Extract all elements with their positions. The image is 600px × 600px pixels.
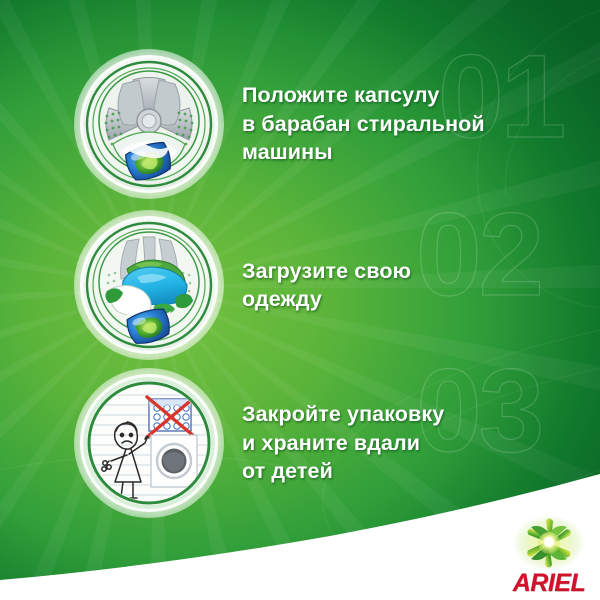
washing-machine-drum-with-pod-icon xyxy=(83,58,215,190)
ariel-star-icon xyxy=(512,515,586,573)
step-2-icon-wrapper xyxy=(83,219,215,351)
step-row-1: Положите капсулу в барабан стиральной ма… xyxy=(0,58,600,190)
ariel-wordmark: ARIEL xyxy=(503,569,595,598)
step-2-text: Загрузите свою одежду xyxy=(242,257,411,314)
step-row-2: Загрузите свою одежду xyxy=(0,219,600,351)
ariel-instruction-poster: 01 02 03 xyxy=(0,0,600,600)
step-3-icon-wrapper xyxy=(83,377,215,509)
step-3-text: Закройте упаковку и храните вдали от дет… xyxy=(242,400,444,485)
step-1-icon-wrapper xyxy=(83,58,215,190)
ariel-logo: ARIEL xyxy=(503,515,595,598)
step-row-3: Закройте упаковку и храните вдали от дет… xyxy=(0,377,600,509)
step-1-text: Положите капсулу в барабан стиральной ма… xyxy=(242,81,485,166)
drum-loaded-with-laundry-icon xyxy=(83,219,215,351)
keep-away-from-children-icon xyxy=(83,377,215,509)
